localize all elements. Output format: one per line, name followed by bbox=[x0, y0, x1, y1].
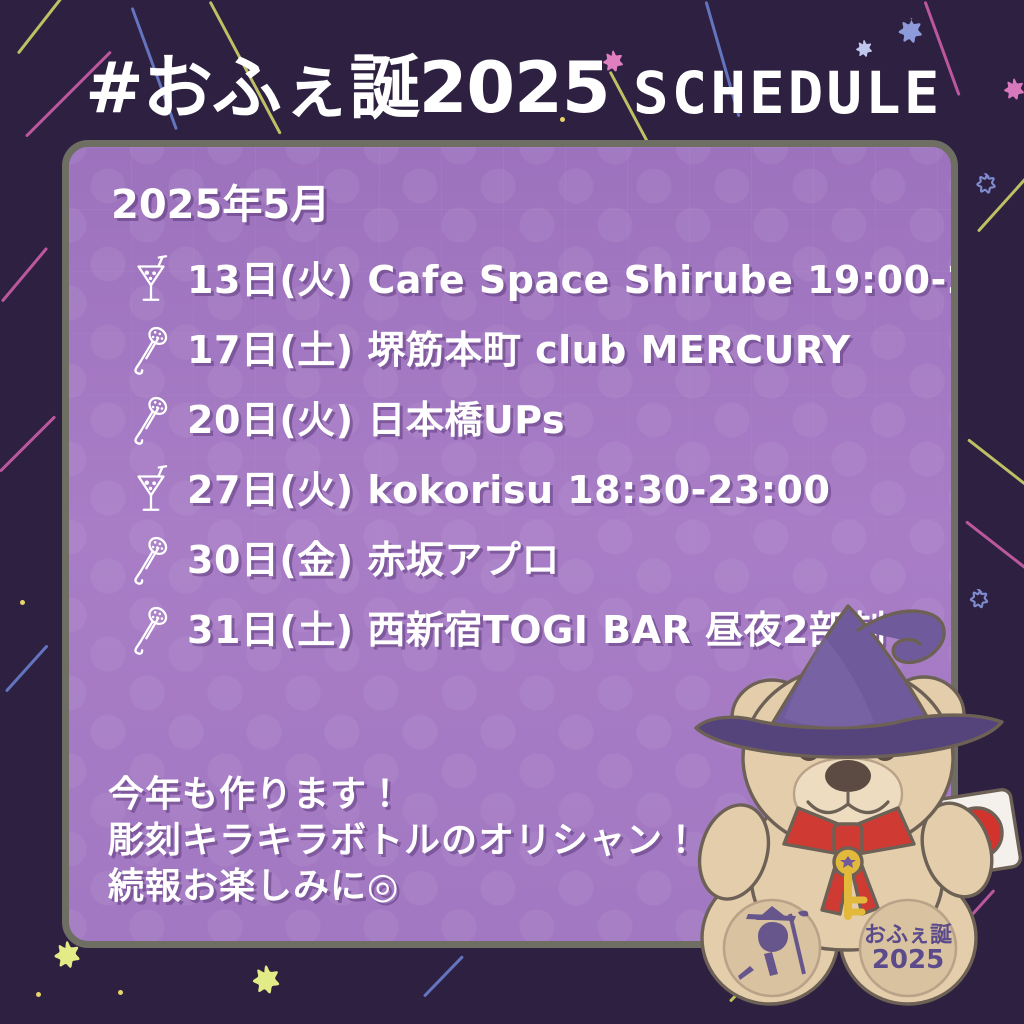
flyer-canvas: #おふぇ誕2025 SCHEDULE 2025年5月 bbox=[0, 0, 1024, 1024]
note-line: 今年も作ります！ bbox=[108, 772, 700, 818]
note-line: 彫刻キラキラボトルのオリシャン！ bbox=[108, 818, 700, 864]
microphone-icon bbox=[129, 324, 173, 376]
microphone-icon bbox=[129, 394, 173, 446]
list-item[interactable]: 17日(土) 堺筋本町 club MERCURY bbox=[105, 315, 951, 385]
schedule-row-text: 30日(金) 赤坂アプロ bbox=[187, 541, 560, 579]
streak-line bbox=[1, 247, 48, 303]
cocktail-glass-icon bbox=[129, 464, 173, 516]
month-heading: 2025年5月 bbox=[111, 185, 951, 225]
streak-line bbox=[423, 955, 464, 997]
schedule-row-text: 13日(火) Cafe Space Shirube 19:00-23:00 bbox=[187, 261, 958, 299]
sparkle-dot bbox=[20, 600, 25, 605]
witch-hat-icon bbox=[696, 606, 1002, 757]
list-item[interactable]: 13日(火) Cafe Space Shirube 19:00-23:00 bbox=[105, 245, 951, 315]
star-icon bbox=[246, 962, 286, 1002]
schedule-row-text: 20日(火) 日本橋UPs bbox=[187, 401, 565, 439]
streak-line bbox=[967, 438, 1024, 496]
microphone-icon bbox=[129, 604, 173, 656]
schedule-row-text: 27日(火) kokorisu 18:30-23:00 bbox=[187, 471, 830, 509]
cocktail-glass-icon bbox=[129, 254, 173, 306]
paw-label-line2: 2025 bbox=[872, 945, 944, 975]
bear-nose bbox=[825, 760, 871, 792]
streak-line bbox=[5, 644, 49, 692]
sparkle-dot bbox=[118, 990, 123, 995]
sparkle-dot bbox=[36, 992, 41, 997]
streak-line bbox=[977, 149, 1024, 233]
note-line: 続報お楽しみに◎ bbox=[108, 864, 700, 910]
schedule-row-text: 17日(土) 堺筋本町 club MERCURY bbox=[187, 331, 851, 369]
streak-line bbox=[0, 415, 56, 472]
star-outline-icon bbox=[970, 170, 1002, 202]
title-japanese: #おふぇ誕2025 bbox=[85, 55, 609, 122]
microphone-icon bbox=[129, 534, 173, 586]
title-english: SCHEDULE bbox=[633, 64, 942, 122]
page-title: #おふぇ誕2025 SCHEDULE bbox=[0, 22, 1024, 122]
announcement-note: 今年も作ります！ 彫刻キラキラボトルのオリシャン！ 続報お楽しみに◎ bbox=[108, 772, 700, 910]
list-item[interactable]: 20日(火) 日本橋UPs bbox=[105, 385, 951, 455]
list-item[interactable]: 27日(火) kokorisu 18:30-23:00 bbox=[105, 455, 951, 525]
witch-teddy-bear-mascot: おふぇ誕 2025 bbox=[672, 570, 1024, 1024]
